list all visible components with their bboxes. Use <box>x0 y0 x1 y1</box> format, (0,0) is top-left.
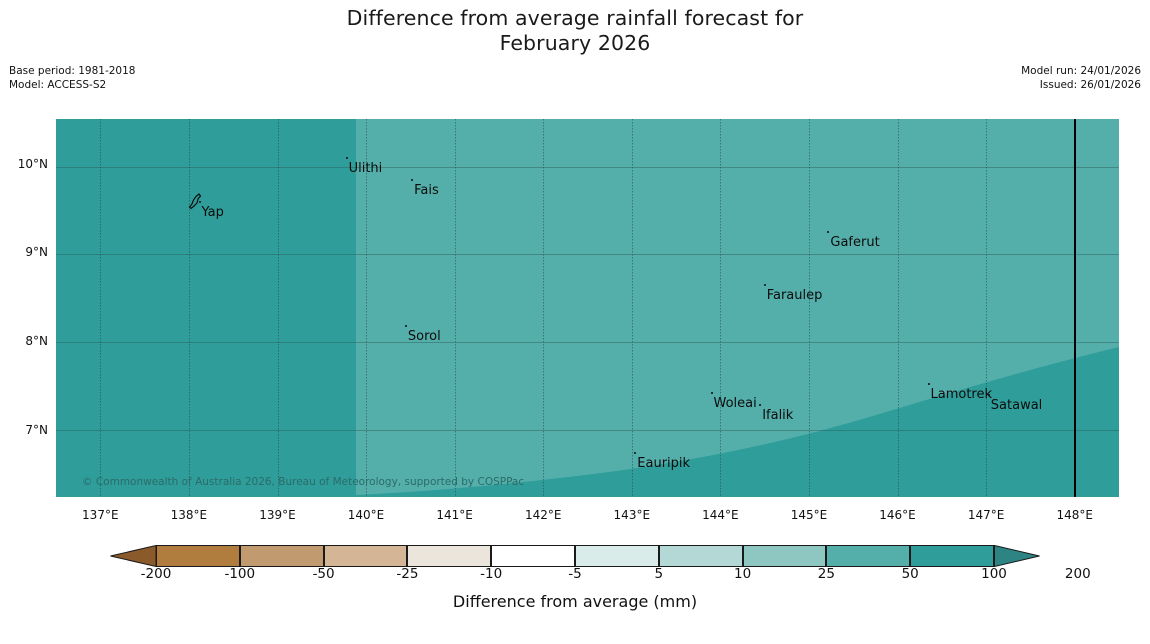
colorbar-tick-5: 5 <box>655 566 664 582</box>
x-axis-tick-137: 137°E <box>82 508 119 522</box>
island-label-fais: Fais <box>412 184 439 197</box>
x-axis-tick-148: 148°E <box>1056 508 1093 522</box>
colorbar-tick--50: -50 <box>313 566 335 582</box>
colorbar-over-arrow <box>994 545 1040 567</box>
y-axis-tick-7: 7°N <box>48 423 71 437</box>
gridline-lat-9 <box>56 254 1119 255</box>
colorbar-segment-9 <box>910 545 994 567</box>
gridline-lon-139 <box>278 119 279 497</box>
island-name: Ulithi <box>349 161 383 176</box>
y-axis-tick-label: 9°N <box>25 245 48 259</box>
island-label-ifalik: Ifalik <box>760 409 793 422</box>
island-label-gaferut: Gaferut <box>828 236 879 249</box>
island-marker-icon <box>928 383 930 385</box>
colorbar-tick-100: 100 <box>981 566 1007 582</box>
yap-island-outline-icon <box>188 192 204 214</box>
gridline-lon-138 <box>189 119 190 497</box>
colorbar-tick--10: -10 <box>480 566 502 582</box>
copyright-notice: © Commonwealth of Australia 2026, Bureau… <box>82 476 524 488</box>
gridline-lat-7 <box>56 430 1119 431</box>
colorbar-tick-200: 200 <box>1065 566 1091 582</box>
colorbar-tick--5: -5 <box>568 566 581 582</box>
island-name: Sorol <box>408 329 441 344</box>
island-name: Lamotrek <box>931 387 993 402</box>
gridline-lon-146 <box>898 119 899 497</box>
x-axis-tick-141: 141°E <box>436 508 473 522</box>
colorbar-segment-2 <box>324 545 408 567</box>
metadata-right: Model run: 24/01/2026 Issued: 26/01/2026 <box>1021 64 1141 92</box>
x-axis-tick-144: 144°E <box>702 508 739 522</box>
colorbar-segment-7 <box>743 545 827 567</box>
island-label-sorol: Sorol <box>406 330 441 343</box>
gridline-lon-142 <box>543 119 544 497</box>
meridian-line-148e <box>1074 119 1076 497</box>
island-name: Faraulep <box>767 288 823 303</box>
x-axis-tick-143: 143°E <box>614 508 651 522</box>
island-marker-icon <box>346 157 348 159</box>
gridline-lon-147 <box>986 119 987 497</box>
x-axis-tick-147: 147°E <box>968 508 1005 522</box>
issued-text: Issued: 26/01/2026 <box>1021 78 1141 92</box>
y-axis-tick-9: 9°N <box>48 245 71 259</box>
colorbar-tick-10: 10 <box>734 566 751 582</box>
x-axis-tick-146: 146°E <box>879 508 916 522</box>
x-axis-tick-138: 138°E <box>171 508 208 522</box>
island-label-faraulep: Faraulep <box>765 289 823 302</box>
title-line-1: Difference from average rainfall forecas… <box>347 6 804 30</box>
y-axis-tick-label: 10°N <box>18 157 48 171</box>
y-axis-tick-8: 8°N <box>48 334 71 348</box>
colorbar-segment-4 <box>491 545 575 567</box>
title-line-2: February 2026 <box>0 31 1150 56</box>
gridline-lon-137 <box>100 119 101 497</box>
island-name: Ifalik <box>762 408 793 423</box>
colorbar-segment-3 <box>407 545 491 567</box>
island-marker-icon <box>405 325 407 327</box>
gridline-lon-145 <box>809 119 810 497</box>
gridline-lon-141 <box>455 119 456 497</box>
island-label-eauripik: Eauripik <box>635 457 690 470</box>
island-name: Gaferut <box>830 235 879 250</box>
colorbar-axis-label: Difference from average (mm) <box>0 592 1150 611</box>
colorbar-segment-8 <box>826 545 910 567</box>
colorbar-segment-0 <box>156 545 240 567</box>
y-axis-tick-10: 10°N <box>48 157 78 171</box>
island-marker-icon <box>411 179 413 181</box>
island-name: Yap <box>202 205 224 220</box>
colorbar-tick-50: 50 <box>902 566 919 582</box>
colorbar-tick--25: -25 <box>396 566 418 582</box>
island-name: Eauripik <box>637 456 690 471</box>
island-label-woleai: Woleai <box>712 397 757 410</box>
island-name: Fais <box>414 183 439 198</box>
y-axis-tick-label: 7°N <box>25 423 48 437</box>
x-axis-tick-139: 139°E <box>259 508 296 522</box>
colorbar-tick-25: 25 <box>818 566 835 582</box>
x-axis-tick-145: 145°E <box>791 508 828 522</box>
y-axis-tick-label: 8°N <box>25 334 48 348</box>
island-label-ulithi: Ulithi <box>347 162 383 175</box>
x-axis-tick-142: 142°E <box>525 508 562 522</box>
gridline-lon-144 <box>720 119 721 497</box>
gridline-lon-143 <box>632 119 633 497</box>
colorbar-segment-6 <box>659 545 743 567</box>
metadata-left: Base period: 1981-2018 Model: ACCESS-S2 <box>9 64 135 92</box>
model-text: Model: ACCESS-S2 <box>9 78 135 92</box>
gridline-lat-8 <box>56 342 1119 343</box>
island-label-satawal: Satawal <box>989 399 1043 412</box>
colorbar-tick--200: -200 <box>141 566 172 582</box>
gridline-lat-10 <box>56 167 1119 168</box>
colorbar-under-arrow <box>110 545 156 567</box>
island-marker-icon <box>764 284 766 286</box>
rainfall-contour-layer <box>56 119 1119 497</box>
colorbar-segment-1 <box>240 545 324 567</box>
island-name: Woleai <box>714 396 757 411</box>
page-title: Difference from average rainfall forecas… <box>0 6 1150 56</box>
model-run-text: Model run: 24/01/2026 <box>1021 64 1141 78</box>
map-plot-area[interactable]: YapUlithiFaisSorolGaferutFaraulepWoleaiI… <box>56 119 1119 497</box>
colorbar-tick--100: -100 <box>224 566 255 582</box>
island-label-lamotrek: Lamotrek <box>929 388 993 401</box>
base-period-text: Base period: 1981-2018 <box>9 64 135 78</box>
colorbar-segment-5 <box>575 545 659 567</box>
island-name: Satawal <box>991 398 1043 413</box>
gridline-lon-140 <box>366 119 367 497</box>
colorbar <box>110 545 1040 567</box>
x-axis-tick-140: 140°E <box>348 508 385 522</box>
